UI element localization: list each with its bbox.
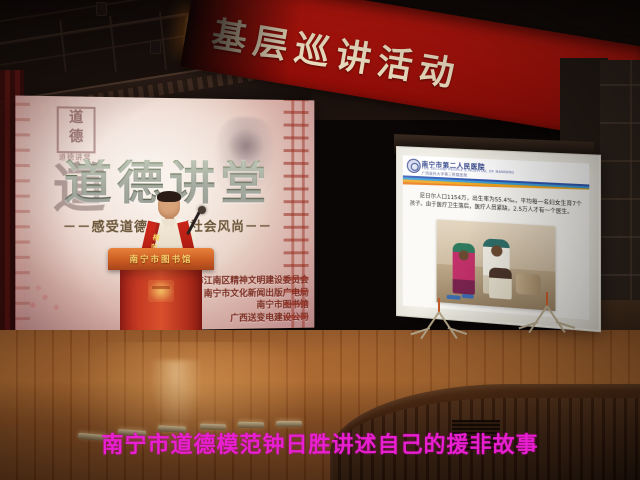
photo-figure-child [489,267,512,299]
photo-scene: 基层巡讲活动 道 德 道德讲堂 道 道德讲堂 －－感受道德 引领社会风尚－－ 南… [0,0,640,480]
image-caption: 南宁市道德模范钟日胜讲述自己的援非故事 [0,427,640,459]
podium-emblem [148,280,174,302]
presentation-slide: 南宁市第二人民医院 THE SECOND PEOPLE'S HOSPITAL O… [403,155,589,320]
seal-char-top: 道 [59,108,94,128]
floor-reflection [150,360,202,430]
speaker-hair [157,191,181,202]
podium-label: 南宁市图书馆 [108,253,214,265]
projection-screen: 南宁市第二人民医院 THE SECOND PEOPLE'S HOSPITAL O… [396,146,601,332]
backdrop-lattice-right [284,100,309,328]
hospital-logo-icon [407,158,421,173]
photo-figure-woman-left [453,243,475,295]
ceiling-truss-post [59,20,66,72]
microphone-icon [198,206,206,214]
photo-sandal [462,294,474,299]
slide-body-text: 尼日尔人口1154万，出生率为55.4‰，平均每一名妇女生育7个孩子。由于医疗卫… [410,192,582,218]
stage-spotlight-icon [150,40,161,54]
seal-char-bottom: 德 [59,128,94,148]
photo-figure-right [516,273,541,295]
projection-screen-assembly: 南宁市第二人民医院 THE SECOND PEOPLE'S HOSPITAL O… [394,138,608,318]
slide-photo [437,219,556,311]
backdrop-plum-blossom-decoration [22,275,78,318]
backdrop-seal-logo: 道 德 [57,106,96,153]
stage-spotlight-icon [96,2,107,16]
